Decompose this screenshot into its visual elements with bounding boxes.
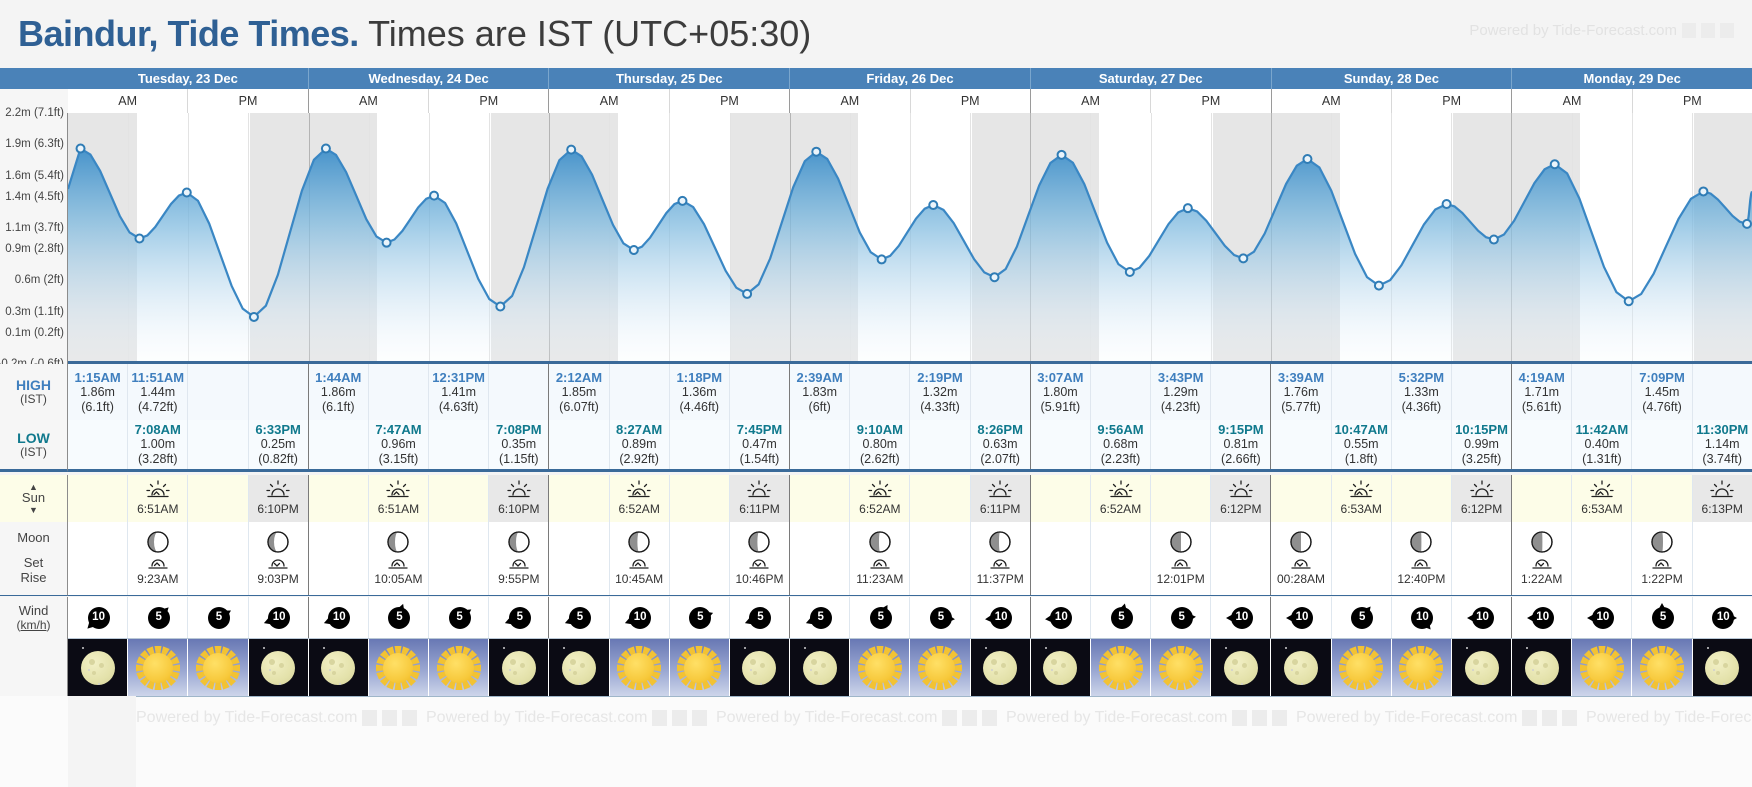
tide-point-low-23[interactable] <box>1490 236 1498 244</box>
sun-glyph <box>143 653 173 683</box>
day-header-label: Saturday, 27 Dec <box>1099 71 1203 86</box>
low-tide-cell-23[interactable]: 10:15PM0.99m(3.25ft) <box>1451 420 1511 469</box>
wind-cell-8[interactable]: 5 <box>548 597 608 638</box>
ampm-header-row: AMPMAMPMAMPMAMPMAMPMAMPMAMPM <box>68 89 1752 113</box>
tide-point-low-1[interactable] <box>135 235 143 243</box>
high-tide-cell-25 <box>1571 364 1631 420</box>
tide-point-high-22[interactable] <box>1443 200 1451 208</box>
sunset-icon <box>746 480 772 500</box>
low-tide-cell-25[interactable]: 11:42AM0.40m(1.31ft) <box>1571 420 1631 469</box>
moon-cell-25 <box>1571 522 1631 595</box>
weather-cell-13[interactable] <box>849 639 909 696</box>
wind-cell-9[interactable]: 10 <box>609 597 669 638</box>
footer-powered-by-text: Powered by Tide-Forecast.com <box>426 709 647 727</box>
moon-crater <box>1061 663 1066 668</box>
moon-time: 11:23AM <box>856 572 903 586</box>
sun-cell-3[interactable]: 6:10PM <box>248 475 308 522</box>
moon-time: 10:45AM <box>615 572 663 586</box>
weather-cell-20[interactable] <box>1270 639 1330 696</box>
star <box>1466 647 1468 649</box>
weather-cell-19[interactable] <box>1210 639 1270 696</box>
high-tide-cell-0[interactable]: 1:15AM1.86m(6.1ft) <box>68 364 127 420</box>
moon-crater <box>814 671 818 675</box>
moon-crater <box>821 663 826 668</box>
ampm-cell-am-4: AM <box>1030 89 1150 113</box>
moon-time: 10:05AM <box>374 572 422 586</box>
low-tide-feet: (3.15ft) <box>379 452 419 467</box>
low-tide-row: 7:08AM1.00m(3.28ft)6:33PM0.25m(0.82ft)7:… <box>68 420 1752 472</box>
tide-point-high-10[interactable] <box>678 197 686 205</box>
moon-crater <box>1723 663 1728 668</box>
weather-cell-23[interactable] <box>1451 639 1511 696</box>
moon-cell-9[interactable]: 10:45AM <box>609 522 669 595</box>
sun-icon <box>1632 639 1691 696</box>
wind-cell-10[interactable]: 5 <box>669 597 729 638</box>
tide-point-high-14[interactable] <box>929 201 937 209</box>
day-header-0: Tuesday, 23 Dec <box>68 68 308 89</box>
weather-cell-16[interactable] <box>1030 639 1090 696</box>
moon-phase-icon <box>1169 530 1193 554</box>
wind-arrow-icon: 10 <box>1275 603 1327 633</box>
wind-speed-badge: 10 <box>1231 607 1253 629</box>
high-tide-cell-4[interactable]: 1:44AM1.86m(6.1ft) <box>308 364 368 420</box>
wind-cell-23[interactable]: 10 <box>1451 597 1511 638</box>
low-tide-time: 7:47AM <box>375 422 421 437</box>
moon-crater <box>1292 659 1298 665</box>
sun-cell-15[interactable]: 6:11PM <box>970 475 1030 522</box>
sun-cell-5[interactable]: 6:51AM <box>368 475 428 522</box>
high-tide-cell-6[interactable]: 12:31PM1.41m(4.63ft) <box>428 364 488 420</box>
sun-cell-21[interactable]: 6:53AM <box>1331 475 1391 522</box>
sun-icon <box>1091 639 1150 696</box>
high-tide-cell-13 <box>849 364 909 420</box>
wind-arrow-icon: 5 <box>914 603 966 633</box>
low-tide-cell-21[interactable]: 10:47AM0.55m(1.8ft) <box>1331 420 1391 469</box>
high-tide-cell-2 <box>187 364 247 420</box>
high-tide-time: 4:19AM <box>1519 370 1565 385</box>
high-tide-meters: 1.76m <box>1284 385 1319 400</box>
day-header-5: Sunday, 28 Dec <box>1271 68 1512 89</box>
sun-cell-12 <box>789 475 849 522</box>
moon-crater <box>1476 671 1480 675</box>
high-tide-feet: (5.61ft) <box>1522 400 1562 415</box>
wind-cell-19[interactable]: 10 <box>1210 597 1270 638</box>
row-label-moonset-text: Set <box>24 556 44 571</box>
moon-row: 9:23AM9:03PM10:05AM9:55PM10:45AM10:46PM1… <box>68 522 1752 596</box>
low-tide-time: 7:45PM <box>737 422 783 437</box>
ampm-cell-pm-1: PM <box>428 89 548 113</box>
weather-cell-1[interactable] <box>127 639 187 696</box>
moonset-icon <box>1408 555 1434 571</box>
star <box>88 669 90 671</box>
star <box>1723 683 1725 685</box>
low-tide-feet: (0.82ft) <box>258 452 298 467</box>
ampm-cell-am-0: AM <box>68 89 187 113</box>
day-header-label: Thursday, 25 Dec <box>616 71 723 86</box>
wind-cell-20[interactable]: 10 <box>1270 597 1330 638</box>
tide-point-low-17[interactable] <box>1126 268 1134 276</box>
wind-cell-5[interactable]: 5 <box>368 597 428 638</box>
moon-crater <box>1232 659 1238 665</box>
star <box>985 647 987 649</box>
moon-time: 11:37PM <box>977 572 1024 586</box>
moon-glyph <box>742 651 776 685</box>
moon-cell-5[interactable]: 10:05AM <box>368 522 428 595</box>
moon-icon <box>730 639 789 696</box>
star <box>1285 647 1287 649</box>
high-tide-feet: (5.91ft) <box>1041 400 1081 415</box>
wind-cell-17[interactable]: 5 <box>1090 597 1150 638</box>
low-tide-time: 8:27AM <box>616 422 662 437</box>
moonset-icon <box>867 555 893 571</box>
sunrise-icon <box>626 480 652 500</box>
wind-cell-13[interactable]: 5 <box>849 597 909 638</box>
tide-point-high-2[interactable] <box>183 188 191 196</box>
moon-crater <box>92 671 96 675</box>
moonrise-icon <box>506 555 532 571</box>
high-tide-feet: (4.63ft) <box>439 400 479 415</box>
wind-arrow-icon: 10 <box>72 603 124 633</box>
sun-icon <box>188 639 247 696</box>
moon-icon <box>1512 639 1571 696</box>
tide-area-fill <box>68 149 1752 364</box>
weather-cell-22[interactable] <box>1391 639 1451 696</box>
weather-cell-11[interactable] <box>729 639 789 696</box>
sun-glyph <box>203 653 233 683</box>
weather-cell-12[interactable] <box>789 639 849 696</box>
tide-point-low-7[interactable] <box>496 302 504 310</box>
high-tide-cell-7 <box>488 364 548 420</box>
sun-time: 6:53AM <box>1341 502 1382 516</box>
tide-point-high-12[interactable] <box>812 148 820 156</box>
moon-glyph <box>1465 651 1499 685</box>
high-tide-cell-24[interactable]: 4:19AM1.71m(5.61ft) <box>1511 364 1571 420</box>
tide-point-low-3[interactable] <box>250 313 258 321</box>
weather-cell-17[interactable] <box>1090 639 1150 696</box>
wind-speed-badge: 10 <box>88 607 110 629</box>
low-tide-cell-10 <box>669 420 729 469</box>
wind-cell-0[interactable]: 10 <box>68 597 127 638</box>
tide-point-low-21[interactable] <box>1375 282 1383 290</box>
tide-point-low-11[interactable] <box>743 290 751 298</box>
sun-cell-6 <box>428 475 488 522</box>
wind-speed-badge: 10 <box>1050 607 1072 629</box>
high-tide-cell-12[interactable]: 2:39AM1.83m(6ft) <box>789 364 849 420</box>
moon-time: 10:46PM <box>735 572 783 586</box>
wind-speed-badge: 10 <box>1712 607 1734 629</box>
star <box>1482 683 1484 685</box>
high-tide-cell-22[interactable]: 5:32PM1.33m(4.36ft) <box>1391 364 1451 420</box>
low-tide-cell-1[interactable]: 7:08AM1.00m(3.28ft) <box>127 420 187 469</box>
weather-cell-24[interactable] <box>1511 639 1571 696</box>
wind-cell-14[interactable]: 5 <box>909 597 969 638</box>
high-tide-cell-26[interactable]: 7:09PM1.45m(4.76ft) <box>1631 364 1691 420</box>
day-header-3: Friday, 26 Dec <box>789 68 1030 89</box>
sun-cell-25[interactable]: 6:53AM <box>1571 475 1631 522</box>
sun-cell-22 <box>1391 475 1451 522</box>
moon-crater <box>520 663 525 668</box>
low-tide-cell-7[interactable]: 7:08PM0.35m(1.15ft) <box>488 420 548 469</box>
wind-arrow-icon: 5 <box>553 603 605 633</box>
moon-crater <box>1302 663 1307 668</box>
low-tide-cell-17[interactable]: 9:56AM0.68m(2.23ft) <box>1090 420 1150 469</box>
high-tide-feet: (6ft) <box>809 400 831 415</box>
weather-cell-18[interactable] <box>1150 639 1210 696</box>
sun-cell-23[interactable]: 6:12PM <box>1451 475 1511 522</box>
sun-glyph <box>444 653 474 683</box>
high-tide-meters: 1.83m <box>802 385 837 400</box>
low-tide-cell-9[interactable]: 8:27AM0.89m(2.92ft) <box>609 420 669 469</box>
y-axis-tick-2: 1.6m (5.4ft) <box>5 170 64 182</box>
tide-point-low-19[interactable] <box>1239 254 1247 262</box>
wind-cell-7[interactable]: 5 <box>488 597 548 638</box>
low-tide-cell-13[interactable]: 9:10AM0.80m(2.62ft) <box>849 420 909 469</box>
moonset-icon <box>1168 555 1194 571</box>
moon-cell-7[interactable]: 9:55PM <box>488 522 548 595</box>
low-tide-cell-5[interactable]: 7:47AM0.96m(3.15ft) <box>368 420 428 469</box>
moon-cell-21 <box>1331 522 1391 595</box>
wind-speed-badge: 10 <box>629 607 651 629</box>
high-tide-cell-9 <box>609 364 669 420</box>
wind-cell-1[interactable]: 5 <box>127 597 187 638</box>
high-tide-cell-18[interactable]: 3:43PM1.29m(4.23ft) <box>1150 364 1210 420</box>
tide-curve-chart <box>68 113 1752 364</box>
ampm-cell-am-5: AM <box>1271 89 1391 113</box>
low-tide-cell-27[interactable]: 11:30PM1.14m(3.74ft) <box>1692 420 1752 469</box>
sun-icon <box>429 639 488 696</box>
star <box>82 647 84 649</box>
moon-cell-13[interactable]: 11:23AM <box>849 522 909 595</box>
tide-point-high-20[interactable] <box>1303 155 1311 163</box>
wind-unit-link[interactable]: (km/h) <box>16 619 50 633</box>
row-label-high-unit: (IST) <box>20 393 47 407</box>
wind-speed-badge: 5 <box>509 607 531 629</box>
sun-cell-7[interactable]: 6:10PM <box>488 475 548 522</box>
low-tide-cell-3[interactable]: 6:33PM0.25m(0.82ft) <box>248 420 308 469</box>
sun-glyph <box>1166 653 1196 683</box>
tide-point-high-24[interactable] <box>1551 160 1559 168</box>
weather-cell-4[interactable] <box>308 639 368 696</box>
weather-cell-26[interactable] <box>1631 639 1691 696</box>
moon-time: 12:01PM <box>1157 572 1205 586</box>
wind-cell-26[interactable]: 5 <box>1631 597 1691 638</box>
moon-cell-24[interactable]: 1:22AM <box>1511 522 1571 595</box>
moonrise-icon <box>265 555 291 571</box>
tide-point-low-13[interactable] <box>878 255 886 263</box>
moon-cell-26[interactable]: 1:22PM <box>1631 522 1691 595</box>
day-header-label: Sunday, 28 Dec <box>1344 71 1439 86</box>
high-tide-cell-8[interactable]: 2:12AM1.85m(6.07ft) <box>548 364 608 420</box>
sun-cell-26 <box>1631 475 1691 522</box>
wind-cell-15[interactable]: 10 <box>970 597 1030 638</box>
moon-cell-15[interactable]: 11:37PM <box>970 522 1030 595</box>
logo-swap-icon <box>382 710 397 726</box>
wind-cell-12[interactable]: 5 <box>789 597 849 638</box>
weather-cell-21[interactable] <box>1331 639 1391 696</box>
sun-cell-16 <box>1030 475 1090 522</box>
wind-cell-16[interactable]: 10 <box>1030 597 1090 638</box>
sun-time: 6:12PM <box>1461 502 1502 516</box>
wind-cell-25[interactable]: 10 <box>1571 597 1631 638</box>
row-label-moon: Moon Set Rise <box>0 522 68 596</box>
sun-time: 6:13PM <box>1702 502 1743 516</box>
sunset-icon <box>265 480 291 500</box>
low-tide-cell-15[interactable]: 8:26PM0.63m(2.07ft) <box>970 420 1030 469</box>
day-header-row: Tuesday, 23 DecWednesday, 24 DecThursday… <box>68 68 1752 89</box>
days-area: Tuesday, 23 DecWednesday, 24 DecThursday… <box>68 68 1752 787</box>
tide-point-high-18[interactable] <box>1184 204 1192 212</box>
moon-cell-1[interactable]: 9:23AM <box>127 522 187 595</box>
footer-powered-by-3: Powered by Tide-Forecast.com <box>1006 709 1287 727</box>
high-tide-meters: 1.29m <box>1163 385 1198 400</box>
high-tide-cell-16[interactable]: 3:07AM1.80m(5.91ft) <box>1030 364 1090 420</box>
moon-crater <box>1483 663 1488 668</box>
moon-icon <box>549 639 608 696</box>
moon-cell-14 <box>909 522 969 595</box>
sun-cell-24 <box>1511 475 1571 522</box>
wind-cell-18[interactable]: 5 <box>1150 597 1210 638</box>
tide-point-high-4[interactable] <box>322 145 330 153</box>
chart-y-axis: 2.2m (7.1ft)1.9m (6.3ft)1.6m (5.4ft)1.4m… <box>0 113 68 364</box>
weather-cell-27[interactable] <box>1692 639 1752 696</box>
moon-cell-20[interactable]: 00:28AM <box>1270 522 1330 595</box>
footer-powered-by-text: Powered by Tide-Forecast.com <box>716 709 937 727</box>
tide-point-low-27[interactable] <box>1743 220 1751 228</box>
wind-cell-4[interactable]: 10 <box>308 597 368 638</box>
wind-speed-badge: 5 <box>1171 607 1193 629</box>
low-tide-cell-19[interactable]: 9:15PM0.81m(2.66ft) <box>1210 420 1270 469</box>
tide-table-grid: 2.2m (7.1ft)1.9m (6.3ft)1.6m (5.4ft)1.4m… <box>0 68 1752 787</box>
sun-time: 6:52AM <box>618 502 659 516</box>
sun-cell-11[interactable]: 6:11PM <box>729 475 789 522</box>
high-tide-feet: (4.33ft) <box>920 400 960 415</box>
moon-glyph <box>502 651 536 685</box>
tide-point-low-5[interactable] <box>383 239 391 247</box>
moon-glyph <box>1224 651 1258 685</box>
tide-point-high-6[interactable] <box>430 192 438 200</box>
wind-cell-24[interactable]: 10 <box>1511 597 1571 638</box>
moon-crater <box>1713 659 1719 665</box>
moon-cell-16 <box>1030 522 1090 595</box>
moon-cell-11[interactable]: 10:46PM <box>729 522 789 595</box>
high-tide-cell-10[interactable]: 1:18PM1.36m(4.46ft) <box>669 364 729 420</box>
moon-crater <box>332 671 336 675</box>
wind-cell-22[interactable]: 10 <box>1391 597 1451 638</box>
star <box>1225 647 1227 649</box>
moon-phase-icon <box>266 530 290 554</box>
weather-cell-14[interactable] <box>909 639 969 696</box>
moon-time: 1:22PM <box>1641 572 1682 586</box>
high-tide-feet: (4.76ft) <box>1642 400 1682 415</box>
sun-cell-10 <box>669 475 729 522</box>
weather-cell-15[interactable] <box>970 639 1030 696</box>
footer-powered-by-text: Powered by Tide-Forecast.com <box>1006 709 1227 727</box>
high-tide-time: 11:51AM <box>131 370 184 385</box>
weather-cell-9[interactable] <box>609 639 669 696</box>
weather-cell-5[interactable] <box>368 639 428 696</box>
sun-glyph <box>1647 653 1677 683</box>
moon-cell-18[interactable]: 12:01PM <box>1150 522 1210 595</box>
moonset-icon <box>385 555 411 571</box>
high-tide-cell-11 <box>729 364 789 420</box>
wind-cell-27[interactable]: 10 <box>1692 597 1752 638</box>
day-header-4: Saturday, 27 Dec <box>1030 68 1271 89</box>
weather-cell-7[interactable] <box>488 639 548 696</box>
sun-time: 6:10PM <box>498 502 539 516</box>
low-tide-meters: 0.63m <box>983 437 1018 452</box>
sun-cell-19[interactable]: 6:12PM <box>1210 475 1270 522</box>
sun-icon <box>1392 639 1451 696</box>
sun-cell-17[interactable]: 6:52AM <box>1090 475 1150 522</box>
moon-cell-3[interactable]: 9:03PM <box>248 522 308 595</box>
wind-cell-21[interactable]: 5 <box>1331 597 1391 638</box>
high-tide-cell-14[interactable]: 2:19PM1.32m(4.33ft) <box>909 364 969 420</box>
low-tide-feet: (2.23ft) <box>1101 452 1141 467</box>
star <box>1526 647 1528 649</box>
moon-cell-22[interactable]: 12:40PM <box>1391 522 1451 595</box>
low-tide-time: 11:42AM <box>1576 422 1629 437</box>
logo-wave-icon <box>1562 710 1577 726</box>
sun-time: 6:11PM <box>980 502 1020 516</box>
weather-cell-25[interactable] <box>1571 639 1631 696</box>
weather-cell-0[interactable] <box>68 639 127 696</box>
moon-crater <box>994 671 998 675</box>
ampm-cell-pm-3: PM <box>910 89 1030 113</box>
high-tide-cell-3 <box>248 364 308 420</box>
tide-point-low-25[interactable] <box>1625 297 1633 305</box>
sun-cell-27[interactable]: 6:13PM <box>1692 475 1752 522</box>
tide-point-high-8[interactable] <box>567 146 575 154</box>
weather-cell-8[interactable] <box>548 639 608 696</box>
sun-cell-13[interactable]: 6:52AM <box>849 475 909 522</box>
wind-cell-6[interactable]: 5 <box>428 597 488 638</box>
tide-point-low-15[interactable] <box>991 273 999 281</box>
wind-speed-badge: 10 <box>1592 607 1614 629</box>
wind-cell-3[interactable]: 10 <box>248 597 308 638</box>
moon-time: 9:55PM <box>498 572 539 586</box>
weather-cell-10[interactable] <box>669 639 729 696</box>
high-tide-cell-1[interactable]: 11:51AM1.44m(4.72ft) <box>127 364 187 420</box>
weather-cell-6[interactable] <box>428 639 488 696</box>
weather-cell-2[interactable] <box>187 639 247 696</box>
sun-glyph <box>1587 653 1617 683</box>
wind-cell-2[interactable]: 5 <box>187 597 247 638</box>
high-tide-cell-20[interactable]: 3:39AM1.76m(5.77ft) <box>1270 364 1330 420</box>
low-tide-cell-2 <box>187 420 247 469</box>
sun-cell-9[interactable]: 6:52AM <box>609 475 669 522</box>
moon-crater <box>753 671 757 675</box>
high-tide-meters: 1.36m <box>682 385 717 400</box>
star <box>279 683 281 685</box>
sun-cell-0 <box>68 475 127 522</box>
tide-point-high-26[interactable] <box>1699 187 1707 195</box>
low-tide-cell-11[interactable]: 7:45PM0.47m(1.54ft) <box>729 420 789 469</box>
tide-point-high-0[interactable] <box>77 145 85 153</box>
row-label-sun: ▲ Sun ▼ <box>0 475 68 522</box>
tide-point-high-16[interactable] <box>1058 151 1066 159</box>
star <box>563 647 565 649</box>
star <box>1707 647 1709 649</box>
sun-time: 6:12PM <box>1220 502 1261 516</box>
sun-time: 6:10PM <box>257 502 298 516</box>
wind-arrow-icon: 5 <box>1155 603 1207 633</box>
wind-cell-11[interactable]: 5 <box>729 597 789 638</box>
weather-cell-3[interactable] <box>248 639 308 696</box>
low-tide-meters: 0.35m <box>501 437 536 452</box>
moon-crater <box>1543 663 1548 668</box>
tide-point-low-9[interactable] <box>630 246 638 254</box>
sun-cell-1[interactable]: 6:51AM <box>127 475 187 522</box>
